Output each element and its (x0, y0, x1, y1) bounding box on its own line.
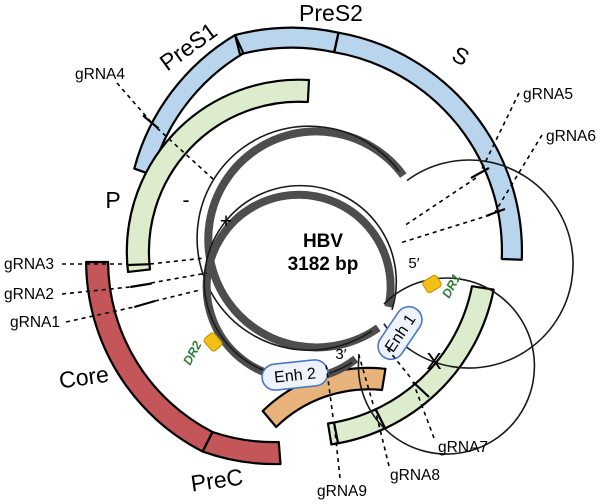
dr1-label: DR1 (439, 272, 463, 301)
dr2-label: DR2 (180, 339, 204, 368)
three-prime-label: 3′ (335, 346, 346, 363)
grna5-inner-leader (404, 178, 476, 226)
grna3-inner-leader (150, 258, 205, 264)
grna-label-6: gRNA6 (546, 128, 596, 145)
grna4-leader (117, 83, 151, 122)
dr1-marker[interactable] (422, 274, 442, 294)
gene-label-s: S (448, 41, 474, 71)
grna1-inner-leader (155, 290, 200, 301)
dna-minus-strand-edge (197, 126, 399, 350)
grna3-tick (129, 264, 151, 265)
grna-label-9: gRNA9 (317, 483, 367, 500)
center-subtitle: 3182 bp (288, 254, 359, 275)
grna-label-7: gRNA7 (438, 439, 488, 456)
gene-label-core: Core (57, 361, 110, 394)
grna2-tick (130, 284, 151, 288)
grna1-tick (134, 301, 155, 307)
grna-label-1: gRNA1 (10, 314, 60, 331)
gene-label-pres2: PreS2 (299, 0, 363, 26)
center-title: HBV (303, 231, 343, 252)
five-prime-label: 5′ (408, 255, 419, 272)
minus-strand-label: - (183, 189, 190, 212)
gene-segment-prec[interactable] (203, 432, 281, 464)
grna-label-2: gRNA2 (4, 286, 54, 303)
grna-label-3: gRNA3 (4, 256, 54, 273)
grna2-inner-leader (151, 273, 207, 283)
grna-label-8: gRNA8 (390, 467, 440, 484)
hbv-genome-svg: Enh 1 Enh 2 (0, 0, 600, 504)
gene-label-p: P (105, 187, 120, 213)
hbv-genome-diagram: Enh 1 Enh 2 (0, 0, 600, 504)
gene-label-x: X (426, 348, 441, 374)
gene-label-prec: PreC (189, 464, 245, 497)
grna-label-5: gRNA5 (523, 86, 573, 103)
grna-label-4: gRNA4 (75, 66, 125, 83)
center-label: HBV 3182 bp (288, 231, 359, 275)
gene-segment-pres2[interactable] (235, 28, 338, 55)
plus-strand-label: + (220, 210, 232, 233)
